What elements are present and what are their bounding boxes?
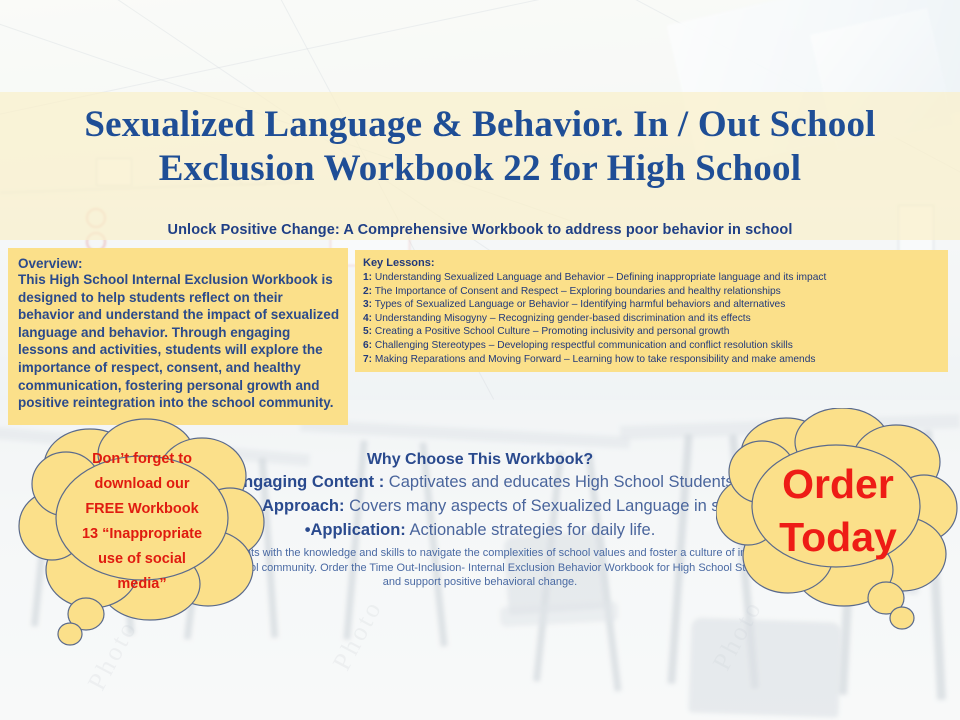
key-lessons-heading: Key Lessons:	[355, 250, 948, 271]
key-lesson-item: 3: Types of Sexualized Language or Behav…	[363, 298, 942, 312]
key-lesson-item: 6: Challenging Stereotypes – Developing …	[363, 339, 942, 353]
thought-cloud-icon	[18, 418, 266, 648]
free-workbook-callout-cloud[interactable]: Don’t forget todownload ourFREE Workbook…	[18, 418, 266, 648]
key-lesson-text: Creating a Positive School Culture – Pro…	[372, 326, 729, 337]
page-title-line-2: Exclusion Workbook 22 for High School	[0, 147, 960, 191]
overview-heading: Overview:	[8, 248, 348, 271]
page-title-line-1: Sexualized Language & Behavior. In / Out…	[0, 103, 960, 147]
page-subtitle: Unlock Positive Change: A Comprehensive …	[0, 222, 960, 238]
key-lesson-number: 7:	[363, 354, 372, 365]
key-lesson-item: 1: Understanding Sexualized Language and…	[363, 271, 942, 285]
key-lesson-text: Understanding Misogyny – Recognizing gen…	[372, 313, 751, 324]
overview-box: Overview: This High School Internal Excl…	[8, 248, 348, 425]
key-lesson-item: 2: The Importance of Consent and Respect…	[363, 285, 942, 299]
why-bullet-2-text: Covers many aspects of Sexualized Langua…	[345, 497, 768, 515]
key-lesson-text: Understanding Sexualized Language and Be…	[372, 272, 826, 283]
why-bullet-3-label: •Application:	[305, 521, 406, 539]
key-lessons-list: 1: Understanding Sexualized Language and…	[355, 271, 948, 366]
overview-body: This High School Internal Exclusion Work…	[8, 271, 348, 412]
why-bullet-1-text: Captivates and educates High School Stud…	[384, 473, 733, 491]
key-lessons-box: Key Lessons: 1: Understanding Sexualized…	[355, 250, 948, 372]
thought-cloud-icon	[716, 408, 960, 634]
key-lesson-number: 3:	[363, 299, 372, 310]
key-lesson-number: 1:	[363, 272, 372, 283]
key-lesson-item: 5: Creating a Positive School Culture – …	[363, 325, 942, 339]
key-lesson-text: Challenging Stereotypes – Developing res…	[372, 340, 793, 351]
why-bullet-3-text: Actionable strategies for daily life.	[406, 521, 655, 539]
order-today-callout-cloud[interactable]: OrderToday	[716, 408, 960, 634]
key-lesson-item: 7: Making Reparations and Moving Forward…	[363, 353, 942, 367]
key-lesson-text: Types of Sexualized Language or Behavior…	[372, 299, 785, 310]
key-lesson-item: 4: Understanding Misogyny – Recognizing …	[363, 312, 942, 326]
poster-canvas: Photo Photo Photo Sexualized Language & …	[0, 0, 960, 720]
key-lesson-text: The Importance of Consent and Respect – …	[372, 286, 781, 297]
key-lesson-number: 2:	[363, 286, 372, 297]
key-lesson-number: 5:	[363, 326, 372, 337]
key-lesson-number: 6:	[363, 340, 372, 351]
key-lesson-text: Making Reparations and Moving Forward – …	[372, 354, 815, 365]
page-title: Sexualized Language & Behavior. In / Out…	[0, 103, 960, 191]
key-lesson-number: 4:	[363, 313, 372, 324]
